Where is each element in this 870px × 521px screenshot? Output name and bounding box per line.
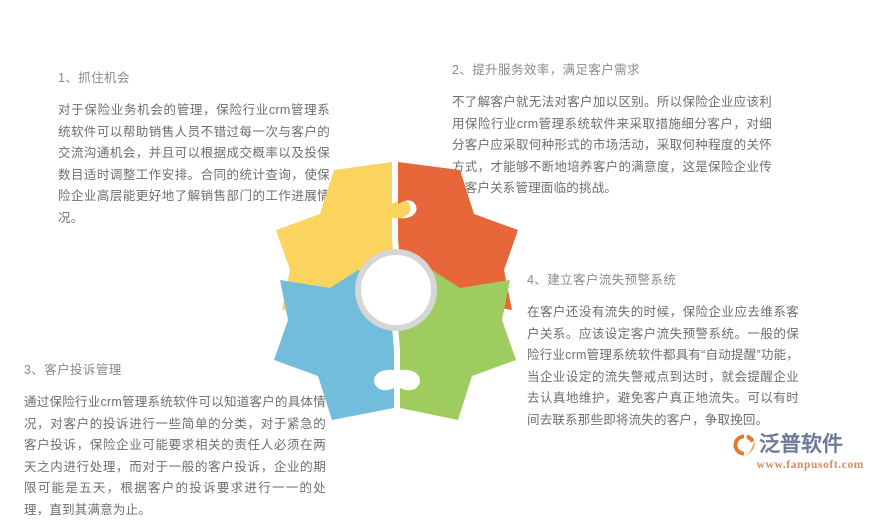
fanpu-swoosh-icon (732, 433, 756, 457)
info-block-2-heading: 2、提升服务效率，满足客户需求 (452, 62, 772, 78)
info-block-4-heading: 4、建立客户流失预警系统 (527, 272, 799, 288)
page-canvas: 1、抓住机会 对于保险业务机会的管理，保险行业crm管理系统软件可以帮助销售人员… (0, 0, 870, 482)
info-block-4: 4、建立客户流失预警系统 在客户还没有流失的时候，保险企业应去维系客户关系。应该… (527, 272, 799, 431)
jigsaw-puzzle-graphic (272, 152, 528, 428)
logo-row: 泛普软件 (732, 432, 864, 457)
puzzle-center-hole (361, 255, 431, 325)
info-block-4-body: 在客户还没有流失的时候，保险企业应去维系客户关系。应该设定客户流失预警系统。一般… (527, 302, 799, 431)
logo-url: www.fanpusoft.com (732, 458, 864, 472)
info-block-1-heading: 1、抓住机会 (58, 70, 330, 86)
brand-logo: 泛普软件 www.fanpusoft.com (732, 432, 864, 476)
logo-wordmark: 泛普软件 (759, 433, 843, 457)
